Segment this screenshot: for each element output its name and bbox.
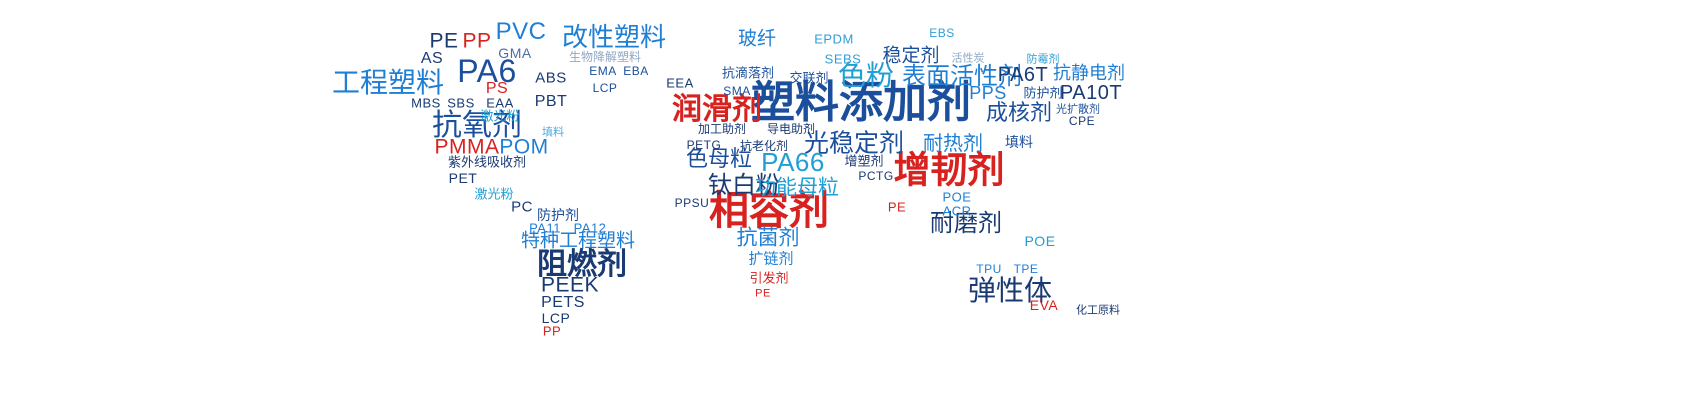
cloud-word[interactable]: PA12 xyxy=(574,222,607,235)
cloud-word[interactable]: 玻纤 xyxy=(738,30,776,49)
cloud-word[interactable]: AS xyxy=(421,51,443,67)
cloud-word[interactable]: 防护剂 xyxy=(1023,88,1062,101)
cloud-word[interactable]: PPSU xyxy=(675,197,710,209)
cloud-word[interactable]: 引发剂 xyxy=(749,273,788,286)
cloud-word[interactable]: PPS xyxy=(969,84,1007,102)
word-cloud-canvas: 塑料添加剂相容剂增韧剂阻燃剂润滑剂工程塑料抗氧剂改性塑料PA6色粉表面活性剂光稳… xyxy=(0,0,1707,400)
cloud-word[interactable]: 稳定剂 xyxy=(882,47,939,66)
cloud-word[interactable]: PETG xyxy=(687,139,722,151)
cloud-word[interactable]: 交联剂 xyxy=(789,73,828,86)
cloud-word[interactable]: PC xyxy=(511,200,533,215)
cloud-word[interactable]: SEBS xyxy=(825,53,862,66)
cloud-word[interactable]: POE xyxy=(1024,234,1055,248)
cloud-word[interactable]: 工程塑料 xyxy=(332,69,444,97)
cloud-word[interactable]: EPDM xyxy=(814,33,854,46)
cloud-word[interactable]: SMA xyxy=(723,85,751,97)
cloud-word[interactable]: 抗菌剂 xyxy=(737,228,800,249)
cloud-word[interactable]: PCTG xyxy=(858,170,893,182)
cloud-word[interactable]: MBS xyxy=(411,97,441,110)
cloud-word[interactable]: PE xyxy=(755,289,771,300)
cloud-word[interactable]: 填料 xyxy=(542,127,564,138)
cloud-word[interactable]: CPE xyxy=(1069,115,1095,127)
cloud-word[interactable]: PA6T xyxy=(998,65,1049,85)
cloud-word[interactable]: EAA xyxy=(486,97,514,110)
cloud-word[interactable]: PVC xyxy=(496,20,547,44)
cloud-word[interactable]: TPU xyxy=(976,263,1002,275)
cloud-word[interactable]: 激光粉 xyxy=(480,111,519,124)
cloud-word[interactable]: 导电助剂 xyxy=(767,123,815,135)
cloud-word[interactable]: PBT xyxy=(535,94,568,110)
cloud-word[interactable]: ABS xyxy=(535,71,567,86)
cloud-word[interactable]: GMA xyxy=(498,46,531,60)
cloud-word[interactable]: EVA xyxy=(1030,298,1058,312)
cloud-word[interactable]: 扩链剂 xyxy=(748,252,793,267)
cloud-word[interactable]: PE xyxy=(429,31,458,52)
cloud-word[interactable]: SBS xyxy=(447,97,475,110)
cloud-word[interactable]: 防霉剂 xyxy=(1027,54,1060,65)
cloud-word[interactable]: PE xyxy=(888,201,906,214)
cloud-word[interactable]: TPE xyxy=(1014,263,1039,275)
cloud-word[interactable]: 增塑剂 xyxy=(844,156,883,169)
cloud-word[interactable]: EBA xyxy=(623,65,649,77)
cloud-word[interactable]: 抗老化剂 xyxy=(740,140,788,152)
cloud-word[interactable]: 成核剂 xyxy=(986,103,1052,125)
cloud-word[interactable]: 抗滴落剂 xyxy=(722,68,774,81)
cloud-word[interactable]: 润滑剂 xyxy=(672,95,762,125)
cloud-word[interactable]: EMA xyxy=(589,65,617,77)
cloud-word[interactable]: 光扩散剂 xyxy=(1056,104,1100,115)
cloud-word[interactable]: LCP xyxy=(593,82,618,94)
cloud-word[interactable]: EEA xyxy=(666,77,694,90)
cloud-word[interactable]: 活性炭 xyxy=(952,53,985,64)
cloud-word[interactable]: ACR xyxy=(943,205,972,218)
cloud-word[interactable]: PMMA xyxy=(435,137,500,158)
cloud-word[interactable]: 增韧剂 xyxy=(894,152,1005,189)
cloud-word[interactable]: 功能母粒 xyxy=(755,178,839,199)
cloud-word[interactable]: 加工助剂 xyxy=(698,123,746,135)
cloud-word[interactable]: 化工原料 xyxy=(1076,305,1120,316)
cloud-word[interactable]: 紫外线吸收剂 xyxy=(448,157,526,170)
cloud-word[interactable]: POM xyxy=(499,137,548,158)
cloud-word[interactable]: PA11 xyxy=(529,222,561,235)
cloud-word[interactable]: 耐热剂 xyxy=(923,133,983,153)
cloud-word[interactable]: PET xyxy=(449,171,478,185)
cloud-word[interactable]: POE xyxy=(943,191,972,204)
cloud-word[interactable]: 抗静电剂 xyxy=(1053,65,1125,83)
cloud-word[interactable]: EBS xyxy=(929,27,955,39)
cloud-word[interactable]: PEEK xyxy=(541,275,599,296)
cloud-word[interactable]: PP xyxy=(462,31,491,52)
cloud-word[interactable]: 改性塑料 xyxy=(562,25,666,51)
cloud-word[interactable]: PP xyxy=(543,325,561,338)
cloud-word[interactable]: 填料 xyxy=(1005,136,1033,150)
cloud-word[interactable]: PETS xyxy=(541,295,585,311)
cloud-word[interactable]: PA10T xyxy=(1060,83,1122,103)
cloud-word[interactable]: 激光粉 xyxy=(474,189,513,202)
cloud-word[interactable]: 生物降解塑料 xyxy=(569,51,641,63)
